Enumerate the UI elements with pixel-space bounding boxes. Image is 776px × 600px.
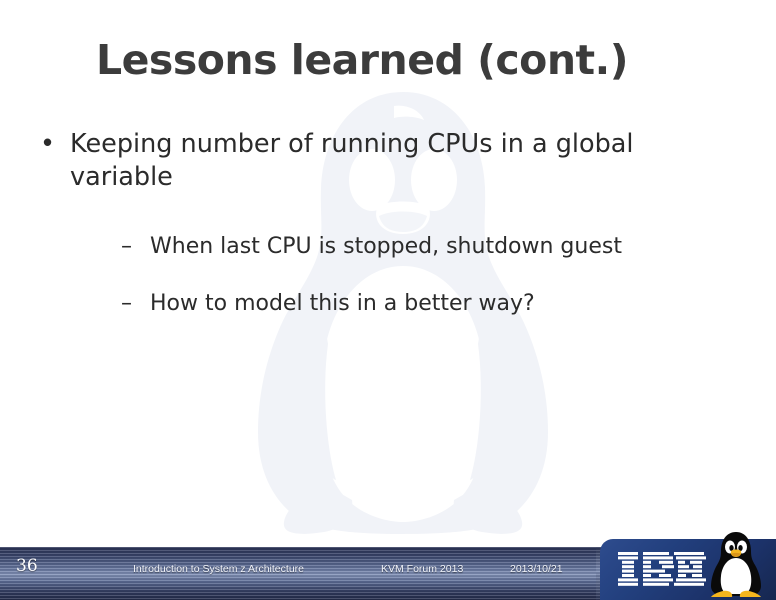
bullet-marker-dot-icon: • <box>40 128 55 161</box>
footer-venue-label: Introduction to System z Architecture <box>133 563 304 576</box>
page-number: 36 <box>16 556 38 576</box>
bullet-text: When last CPU is stopped, shutdown guest <box>150 234 622 259</box>
bullet-marker-dash-icon: – <box>121 233 132 262</box>
spacer <box>0 262 776 290</box>
footer-event-label: KVM Forum 2013 <box>381 563 463 576</box>
bullet-marker-dash-icon: – <box>121 290 132 319</box>
footer-date-label: 2013/10/21 <box>510 563 563 576</box>
spacer <box>0 193 776 233</box>
tux-penguin-logo <box>708 530 764 598</box>
bullet-text: How to model this in a better way? <box>150 291 535 316</box>
page-title: Lessons learned (cont.) <box>96 38 716 83</box>
slide-canvas: Lessons learned (cont.) • Keeping number… <box>0 0 776 600</box>
ibm-logo <box>618 552 710 586</box>
bullet-level1: • Keeping number of running CPUs in a gl… <box>0 128 776 193</box>
slide-body: • Keeping number of running CPUs in a gl… <box>0 128 776 318</box>
bullet-level2: – When last CPU is stopped, shutdown gue… <box>0 233 776 262</box>
bullet-text: Keeping number of running CPUs in a glob… <box>70 129 633 192</box>
bullet-level2: – How to model this in a better way? <box>0 290 776 319</box>
